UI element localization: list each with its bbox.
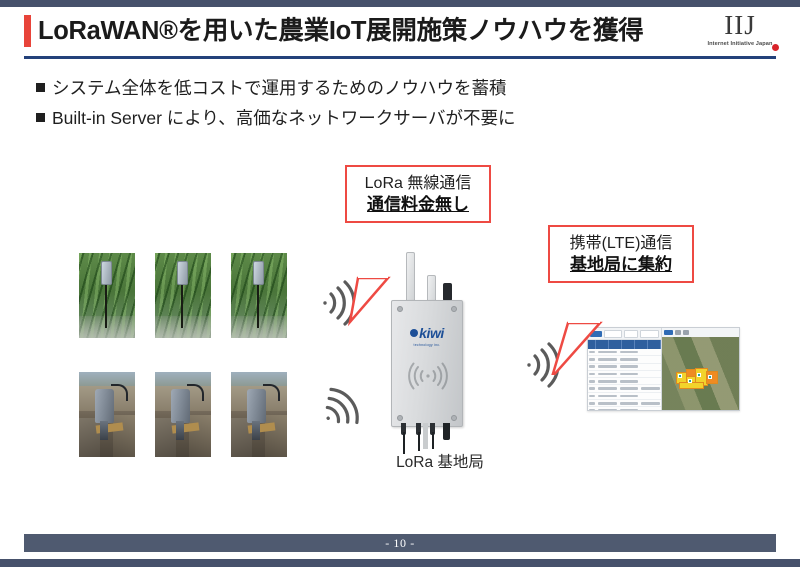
table-header-cell bbox=[648, 340, 661, 349]
list-item: システム全体を低コストで運用するためのノウハウを蓄積 bbox=[36, 76, 756, 102]
sensor-mount bbox=[100, 421, 108, 440]
iij-logo-mark: IIJ bbox=[724, 11, 756, 40]
water-level-sensor bbox=[95, 389, 114, 423]
sensor-cable bbox=[187, 384, 204, 401]
concrete-block-left bbox=[231, 418, 252, 457]
bottom-chrome-bar bbox=[0, 559, 800, 567]
lora-gateway-device: kiwi technology inc. bbox=[383, 252, 469, 440]
bullet-list: システム全体を低コストで運用するためのノウハウを蓄積 Built-in Serv… bbox=[36, 76, 756, 136]
table-header-row bbox=[588, 340, 661, 349]
page-title: LoRaWAN®を用いた農業IoT展開施策ノウハウを獲得 bbox=[38, 12, 643, 50]
slide-canvas: LoRaWAN®を用いた農業IoT展開施策ノウハウを獲得 IIJ Interne… bbox=[0, 0, 800, 567]
lte-callout-line-1: 携帯(LTE)通信 bbox=[560, 233, 682, 254]
water-level-sensor bbox=[171, 389, 190, 423]
bullet-text: Built-in Server により、高価なネットワークサーバが不要に bbox=[52, 106, 516, 130]
iij-logo: IIJ Internet Initiative Japan bbox=[694, 11, 786, 55]
field-photo-water-gate-3 bbox=[231, 372, 287, 457]
signal-waves-lora-upper-icon bbox=[314, 277, 366, 329]
dashboard-toolbar[interactable] bbox=[588, 328, 661, 340]
concrete-block-left bbox=[155, 418, 176, 457]
field-photo-water-gate-2 bbox=[155, 372, 211, 457]
table-row[interactable] bbox=[588, 385, 661, 392]
title-accent-bar bbox=[24, 15, 31, 47]
dashboard-table-pane[interactable] bbox=[588, 328, 662, 410]
table-header-cell bbox=[622, 340, 635, 349]
slide-header: LoRaWAN®を用いた農業IoT展開施策ノウハウを獲得 IIJ Interne… bbox=[0, 7, 800, 59]
sensor-head bbox=[101, 261, 112, 285]
lte-callout: 携帯(LTE)通信 基地局に集約 bbox=[548, 225, 694, 283]
sensor-cable bbox=[111, 384, 128, 401]
table-row[interactable] bbox=[588, 356, 661, 363]
gateway-power-connector bbox=[443, 423, 450, 440]
paddy-water bbox=[231, 316, 287, 338]
signal-waves-lte-icon bbox=[518, 339, 570, 391]
gateway-wireless-icon bbox=[408, 359, 448, 393]
list-item: Built-in Server により、高価なネットワークサーバが不要に bbox=[36, 106, 756, 132]
concrete-block-right bbox=[189, 415, 211, 458]
gateway-caption: LoRa 基地局 bbox=[370, 450, 510, 472]
map-sensor-marker[interactable] bbox=[708, 375, 712, 379]
gateway-connector bbox=[443, 283, 452, 301]
sensor-head bbox=[177, 261, 188, 285]
table-row[interactable] bbox=[588, 378, 661, 385]
table-row[interactable] bbox=[588, 349, 661, 356]
lora-callout-line-2: 通信料金無し bbox=[357, 194, 479, 216]
paddy-water bbox=[155, 316, 211, 338]
lora-callout-line-1: LoRa 無線通信 bbox=[357, 173, 479, 194]
table-row[interactable] bbox=[588, 371, 661, 378]
signal-waves-lora-lower-icon bbox=[314, 383, 366, 435]
gateway-brand-logo: kiwi technology inc. bbox=[392, 325, 462, 348]
gateway-brand-row: kiwi bbox=[392, 325, 462, 343]
field-photo-paddy-3 bbox=[231, 253, 287, 338]
square-bullet-icon bbox=[36, 83, 45, 92]
map-sensor-marker[interactable] bbox=[678, 374, 682, 378]
lte-callout-line-2: 基地局に集約 bbox=[560, 254, 682, 276]
square-bullet-icon bbox=[36, 113, 45, 122]
sensor-mount bbox=[176, 421, 184, 440]
table-row[interactable] bbox=[588, 393, 661, 400]
table-header-cell bbox=[596, 340, 609, 349]
table-row[interactable] bbox=[588, 400, 661, 407]
gateway-wire bbox=[432, 432, 434, 449]
table-header-cell bbox=[609, 340, 622, 349]
concrete-block-right bbox=[113, 415, 135, 458]
footer-bar: - 10 - bbox=[24, 534, 776, 552]
dashboard-filter-field[interactable] bbox=[640, 330, 659, 338]
table-row[interactable] bbox=[588, 407, 661, 410]
field-photo-water-gate-1 bbox=[79, 372, 135, 457]
page-number: - 10 - bbox=[385, 536, 415, 551]
field-photo-paddy-2 bbox=[155, 253, 211, 338]
iij-logo-dot bbox=[772, 44, 779, 51]
photo-sky bbox=[79, 372, 135, 386]
bullet-text: システム全体を低コストで運用するためのノウハウを蓄積 bbox=[52, 76, 506, 100]
field-photo-paddy-1 bbox=[79, 253, 135, 338]
gateway-brand-sub: technology inc. bbox=[392, 343, 462, 348]
kiwi-logo-mark-icon bbox=[410, 329, 418, 337]
map-layer-button[interactable] bbox=[675, 330, 681, 335]
water-level-sensor bbox=[247, 389, 266, 423]
concrete-block-right bbox=[265, 415, 287, 458]
map-parcel[interactable] bbox=[679, 382, 704, 390]
gateway-screw bbox=[397, 306, 403, 312]
gateway-screw bbox=[451, 306, 457, 312]
dashboard-filter-field[interactable] bbox=[624, 330, 638, 338]
table-header-cell bbox=[588, 340, 596, 349]
title-divider-rule bbox=[24, 56, 776, 59]
top-chrome-bar bbox=[0, 0, 800, 7]
map-sensor-marker[interactable] bbox=[688, 379, 692, 383]
gateway-wire bbox=[418, 432, 420, 451]
lora-callout: LoRa 無線通信 通信料金無し bbox=[345, 165, 491, 223]
gateway-screw bbox=[397, 415, 403, 421]
sensor-cable bbox=[263, 384, 280, 401]
dashboard-filter-field[interactable] bbox=[604, 330, 621, 338]
architecture-diagram: kiwi technology inc. bbox=[0, 140, 800, 530]
gateway-brand-name: kiwi bbox=[419, 325, 444, 341]
paddy-water bbox=[79, 316, 135, 338]
satellite-map[interactable] bbox=[662, 337, 739, 410]
map-layer-button[interactable] bbox=[664, 330, 673, 335]
concrete-block-left bbox=[79, 418, 100, 457]
map-layer-button[interactable] bbox=[683, 330, 689, 335]
gateway-antenna-primary bbox=[406, 252, 415, 304]
photo-sky bbox=[155, 372, 211, 386]
map-sensor-marker[interactable] bbox=[697, 373, 701, 377]
sensor-head bbox=[253, 261, 264, 285]
gateway-screw bbox=[451, 415, 457, 421]
monitoring-dashboard[interactable] bbox=[587, 327, 740, 411]
dashboard-action-button[interactable] bbox=[590, 331, 602, 337]
dashboard-map-pane[interactable] bbox=[662, 328, 739, 410]
photo-sky bbox=[231, 372, 287, 386]
sensor-mount bbox=[252, 421, 260, 440]
table-header-cell bbox=[635, 340, 648, 349]
gateway-enclosure: kiwi technology inc. bbox=[391, 300, 463, 427]
table-row[interactable] bbox=[588, 364, 661, 371]
gateway-mount-post bbox=[423, 423, 428, 449]
